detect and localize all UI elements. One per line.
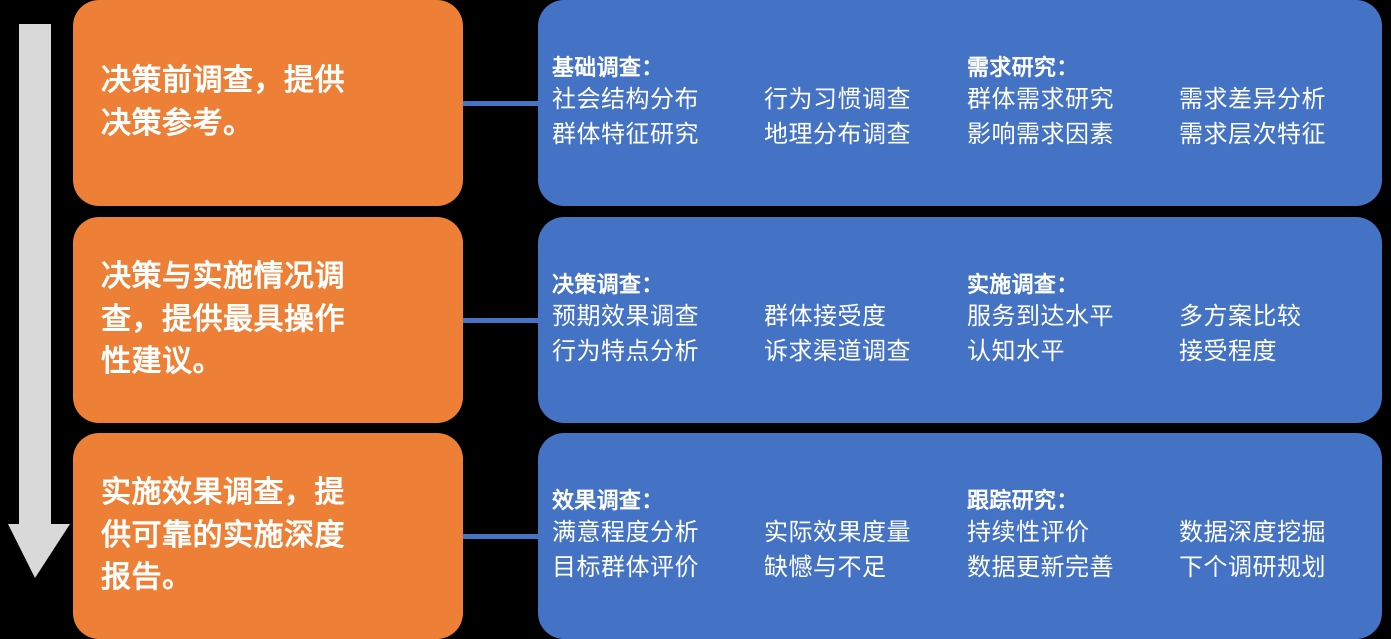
group-item: 影响需求因素 [967, 121, 1179, 150]
stage-title: 决策与实施情况调 查，提供最具操作 性建议。 [101, 256, 345, 384]
group-item: 目标群体评价 [552, 554, 764, 583]
detail-group: 实施调查： 服务到达水平 多方案比较 认知水平 接受程度 [967, 270, 1382, 369]
detail-group: 需求研究： 群体需求研究 需求差异分析 影响需求因素 需求层次特征 [967, 53, 1382, 152]
group-item: 满意程度分析 [552, 519, 764, 548]
detail-card[interactable]: 效果调查： 满意程度分析 实际效果度量 目标群体评价 缺憾与不足 跟踪研究： 持… [538, 433, 1382, 639]
group-item: 缺憾与不足 [764, 554, 967, 583]
connector-line [463, 318, 539, 323]
group-item: 实际效果度量 [764, 519, 967, 548]
group-heading: 跟踪研究： [967, 486, 1382, 515]
group-item: 数据深度挖掘 [1179, 519, 1382, 548]
group-item: 诉求渠道调查 [764, 338, 967, 367]
group-item: 群体接受度 [764, 303, 967, 332]
group-items: 满意程度分析 实际效果度量 目标群体评价 缺憾与不足 [552, 516, 967, 586]
detail-groups: 基础调查： 社会结构分布 行为习惯调查 群体特征研究 地理分布调查 需求研究： … [552, 53, 1382, 152]
detail-card[interactable]: 基础调查： 社会结构分布 行为习惯调查 群体特征研究 地理分布调查 需求研究： … [538, 0, 1382, 206]
group-item: 数据更新完善 [967, 554, 1179, 583]
detail-groups: 效果调查： 满意程度分析 实际效果度量 目标群体评价 缺憾与不足 跟踪研究： 持… [552, 486, 1382, 585]
group-item: 行为习惯调查 [764, 86, 967, 115]
detail-groups: 决策调查： 预期效果调查 群体接受度 行为特点分析 诉求渠道调查 实施调查： 服… [552, 270, 1382, 369]
stage-row: 决策与实施情况调 查，提供最具操作 性建议。 决策调查： 预期效果调查 群体接受… [0, 217, 1391, 423]
connector-line [463, 101, 539, 106]
group-item: 行为特点分析 [552, 338, 764, 367]
group-items: 群体需求研究 需求差异分析 影响需求因素 需求层次特征 [967, 83, 1382, 153]
group-item: 多方案比较 [1179, 303, 1382, 332]
detail-group: 基础调查： 社会结构分布 行为习惯调查 群体特征研究 地理分布调查 [552, 53, 967, 152]
group-item: 群体特征研究 [552, 121, 764, 150]
group-item: 下个调研规划 [1179, 554, 1382, 583]
stage-card[interactable]: 实施效果调查，提 供可靠的实施深度 报告。 [73, 433, 463, 639]
group-items: 持续性评价 数据深度挖掘 数据更新完善 下个调研规划 [967, 516, 1382, 586]
group-heading: 基础调查： [552, 53, 967, 82]
group-heading: 效果调查： [552, 486, 967, 515]
detail-group: 效果调查： 满意程度分析 实际效果度量 目标群体评价 缺憾与不足 [552, 486, 967, 585]
group-heading: 决策调查： [552, 270, 967, 299]
group-item: 接受程度 [1179, 338, 1382, 367]
connector-line [463, 534, 539, 539]
detail-card[interactable]: 决策调查： 预期效果调查 群体接受度 行为特点分析 诉求渠道调查 实施调查： 服… [538, 217, 1382, 423]
diagram-canvas: 决策前调查，提供 决策参考。 基础调查： 社会结构分布 行为习惯调查 群体特征研… [0, 0, 1391, 639]
group-item: 需求层次特征 [1179, 121, 1382, 150]
group-items: 社会结构分布 行为习惯调查 群体特征研究 地理分布调查 [552, 83, 967, 153]
group-heading: 实施调查： [967, 270, 1382, 299]
stage-card[interactable]: 决策前调查，提供 决策参考。 [73, 0, 463, 206]
group-item: 服务到达水平 [967, 303, 1179, 332]
stage-title: 决策前调查，提供 决策参考。 [101, 60, 345, 145]
group-items: 服务到达水平 多方案比较 认知水平 接受程度 [967, 300, 1382, 370]
stage-row: 决策前调查，提供 决策参考。 基础调查： 社会结构分布 行为习惯调查 群体特征研… [0, 0, 1391, 206]
stage-card[interactable]: 决策与实施情况调 查，提供最具操作 性建议。 [73, 217, 463, 423]
group-item: 预期效果调查 [552, 303, 764, 332]
stage-row: 实施效果调查，提 供可靠的实施深度 报告。 效果调查： 满意程度分析 实际效果度… [0, 433, 1391, 639]
stage-title: 实施效果调查，提 供可靠的实施深度 报告。 [101, 472, 345, 600]
group-heading: 需求研究： [967, 53, 1382, 82]
group-item: 群体需求研究 [967, 86, 1179, 115]
group-item: 地理分布调查 [764, 121, 967, 150]
group-items: 预期效果调查 群体接受度 行为特点分析 诉求渠道调查 [552, 300, 967, 370]
group-item: 持续性评价 [967, 519, 1179, 548]
group-item: 需求差异分析 [1179, 86, 1382, 115]
group-item: 社会结构分布 [552, 86, 764, 115]
detail-group: 跟踪研究： 持续性评价 数据深度挖掘 数据更新完善 下个调研规划 [967, 486, 1382, 585]
detail-group: 决策调查： 预期效果调查 群体接受度 行为特点分析 诉求渠道调查 [552, 270, 967, 369]
group-item: 认知水平 [967, 338, 1179, 367]
